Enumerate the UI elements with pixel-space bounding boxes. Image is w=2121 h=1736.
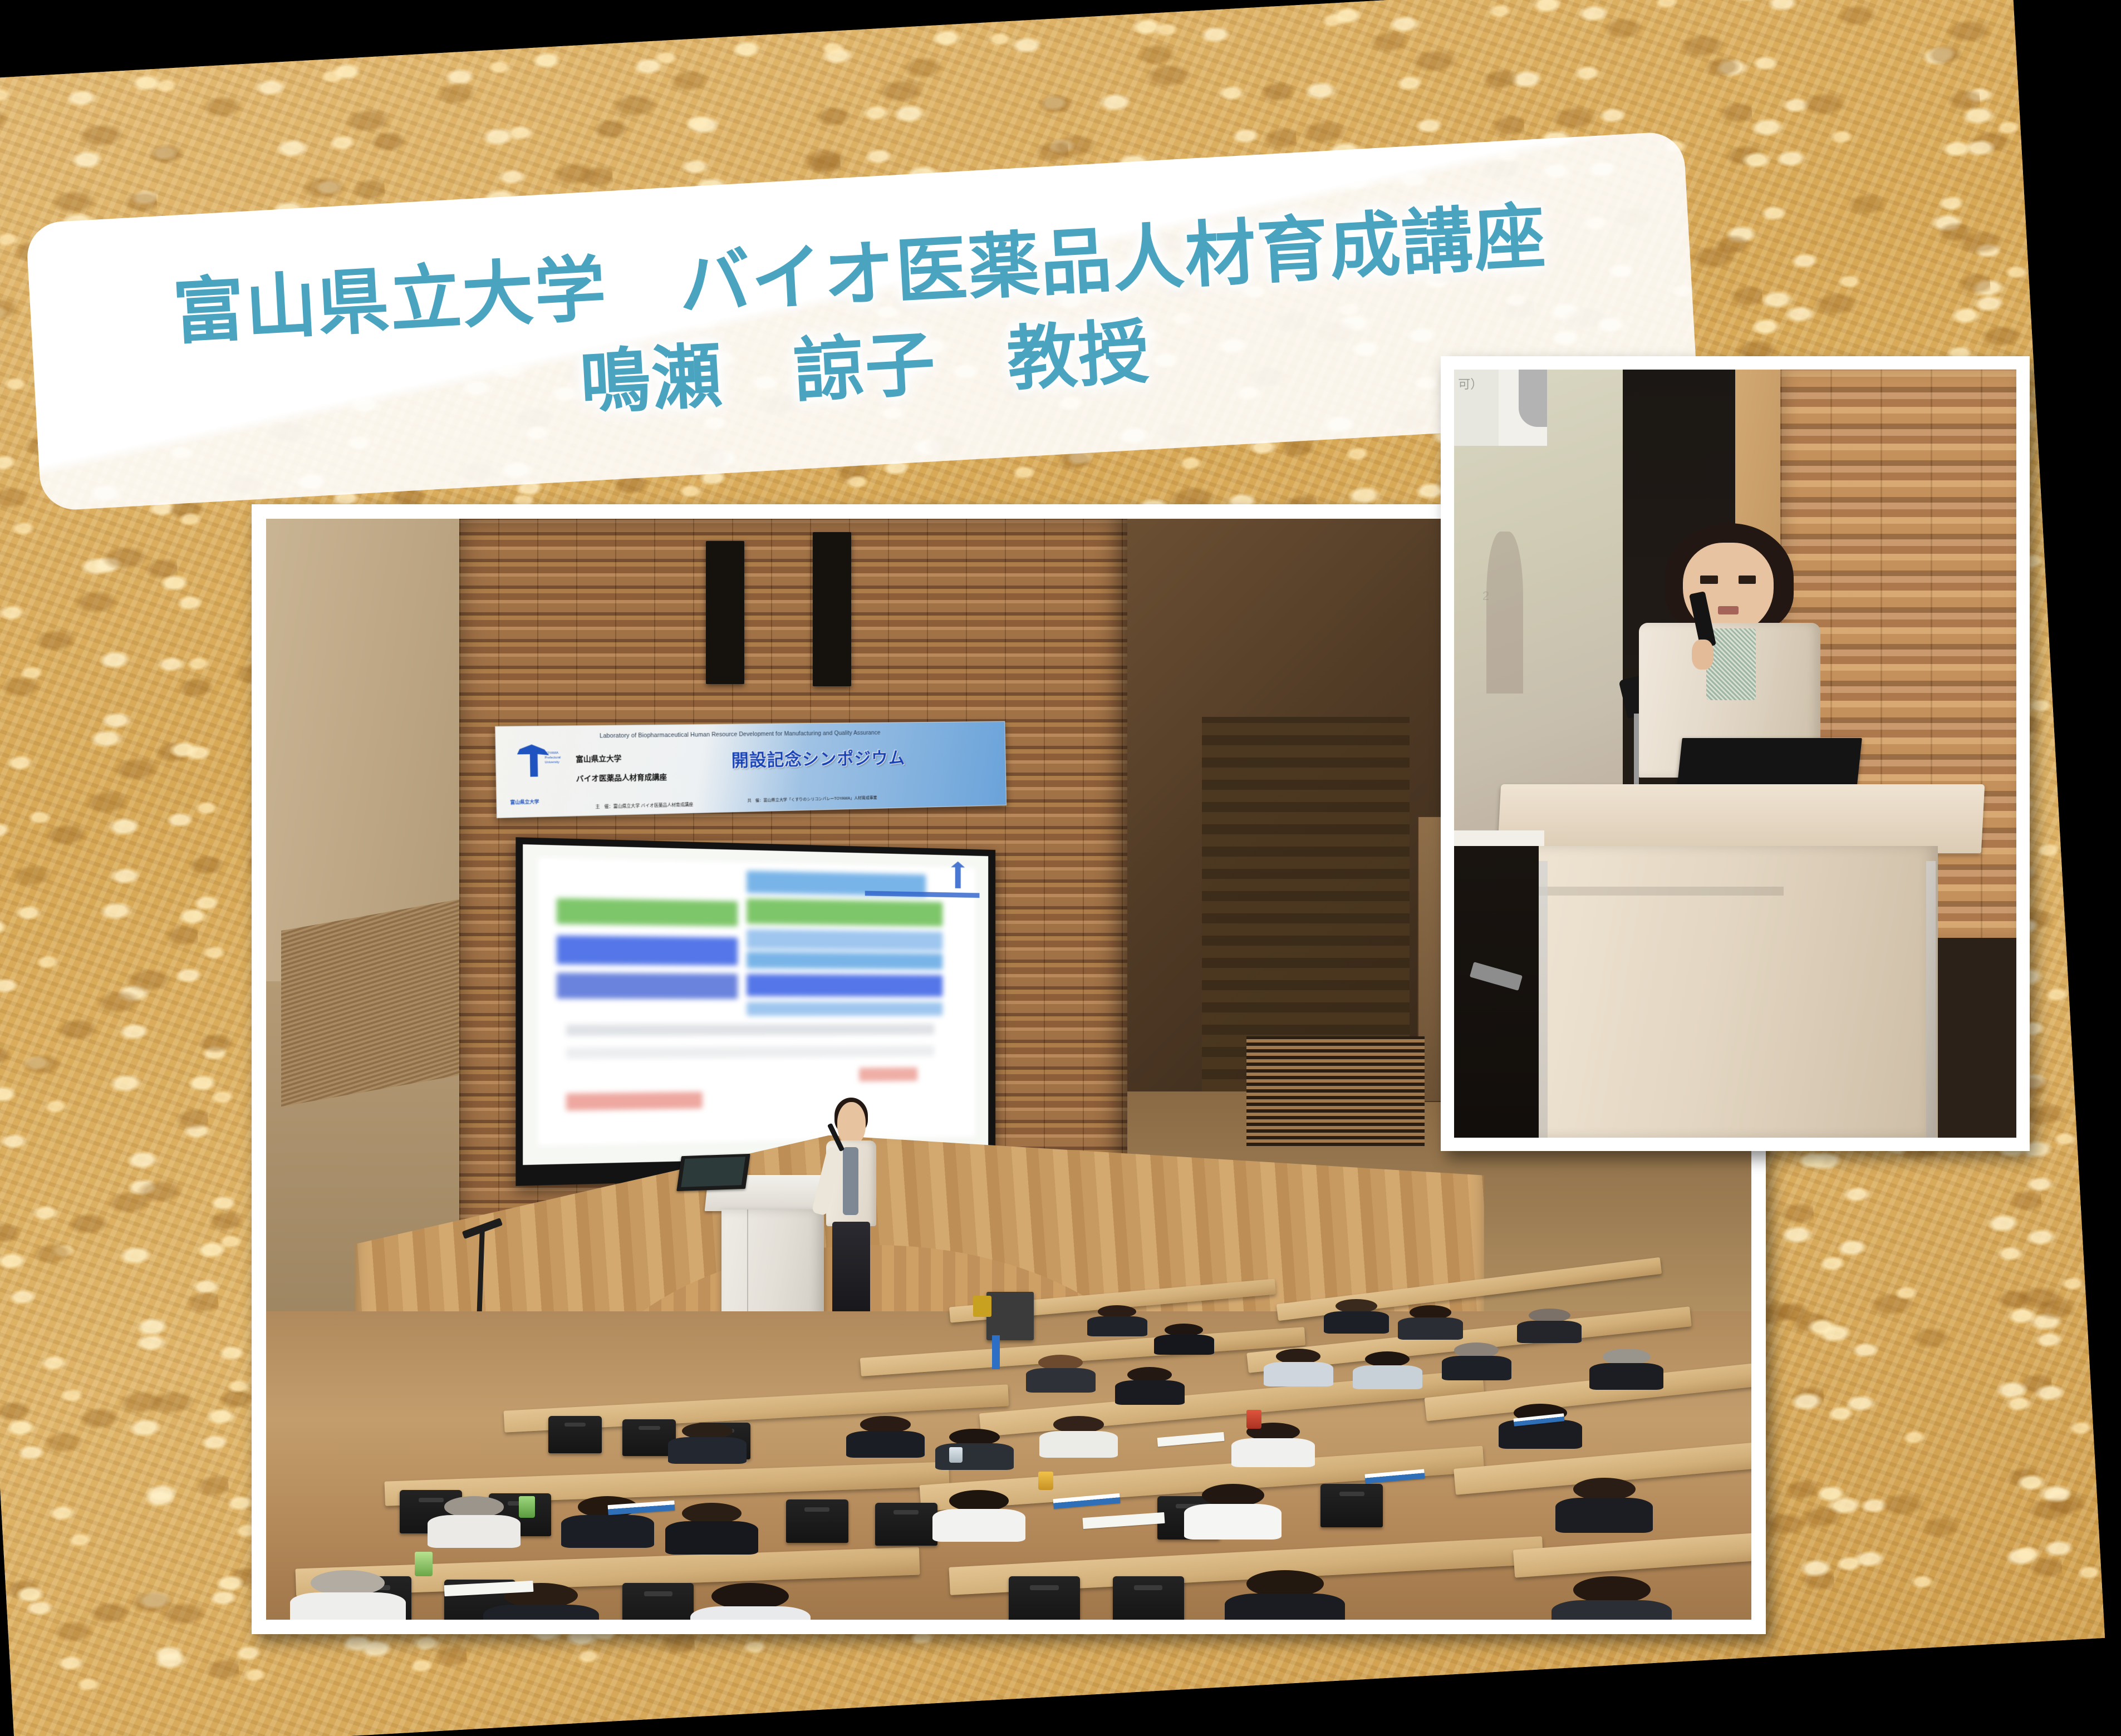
slide-block-blue — [556, 935, 738, 965]
drink-bottle — [519, 1496, 535, 1518]
attendee — [860, 1416, 911, 1453]
desk-row — [1513, 1529, 1751, 1577]
inset-screen-block-3 — [1519, 370, 1547, 427]
logo-roman-line1: TOYAMA — [544, 751, 561, 756]
inset-speaker-mouth — [1718, 606, 1739, 614]
speaker-inner-top — [843, 1147, 858, 1215]
attendee — [1573, 1576, 1651, 1620]
chair — [1009, 1576, 1080, 1620]
slide-block-lightblue-2 — [747, 1001, 942, 1015]
attendee — [1246, 1570, 1324, 1620]
inset-screen-paren-text: 可） — [1458, 375, 1482, 392]
banner-headline: 開設記念シンポジウム — [731, 744, 905, 771]
poster-canvas: Laboratory of Biopharmaceutical Human Re… — [0, 0, 2121, 1736]
banner-university-logo: TOYAMA Prefectural University 富山県立大学 — [510, 744, 566, 794]
inset-screen-shadow — [1486, 532, 1523, 694]
attendee — [1365, 1351, 1410, 1385]
speaker-skirt — [832, 1222, 870, 1316]
slide-block-grey — [566, 1024, 934, 1036]
slide-block-blue-2 — [556, 972, 738, 999]
presentation-slide — [538, 857, 975, 1145]
attendee — [1038, 1355, 1083, 1389]
chair — [875, 1503, 937, 1546]
drink-bottle — [415, 1552, 433, 1576]
inset-glass-panel-right — [1926, 861, 1935, 1138]
attendee — [1202, 1484, 1264, 1533]
banner-org-line2: バイオ医薬品人材育成講座 — [576, 771, 667, 784]
title-line-1: 富山県立大学 バイオ医薬品人材育成講座 — [171, 191, 1549, 358]
attendee — [311, 1570, 385, 1620]
attendee — [1127, 1367, 1172, 1401]
slide-block-blue-3 — [747, 973, 942, 996]
attendee — [1053, 1416, 1104, 1453]
banner-logo-jp: 富山県立大学 — [510, 799, 539, 806]
banner-org-line1: 富山県立大学 — [576, 752, 622, 764]
inset-podium-body — [1533, 846, 1937, 1138]
audience-seating-area — [266, 1311, 1751, 1620]
chair — [1320, 1484, 1383, 1527]
slide-block-lightblue — [747, 929, 942, 951]
chair — [548, 1416, 602, 1453]
inset-speaker-hand — [1692, 640, 1714, 670]
attendee — [444, 1496, 504, 1542]
slide-block-cyan-2 — [747, 951, 942, 969]
slide-block-grey-2 — [566, 1045, 934, 1059]
banner-english-subtitle: Laboratory of Biopharmaceutical Human Re… — [600, 729, 981, 740]
logo-roman-line2: Prefectural — [545, 755, 561, 760]
drink-bottle — [949, 1447, 963, 1463]
attendee — [1573, 1478, 1636, 1527]
attendee — [1098, 1305, 1136, 1333]
banner-footer-right: 共 催：富山県立大学「くすりのシリコンバレーTOYAMA」人材育成事業 — [748, 795, 877, 803]
chair — [622, 1583, 694, 1620]
slide-block-red — [566, 1091, 702, 1110]
paper-sheet — [1157, 1432, 1224, 1446]
attendee — [1529, 1309, 1570, 1339]
projection-screen — [523, 844, 988, 1165]
attendee — [682, 1503, 742, 1549]
paper-sheet — [1083, 1512, 1165, 1529]
attendee — [1454, 1342, 1499, 1376]
right-wall-slats — [1246, 1036, 1425, 1147]
attendee — [1410, 1305, 1451, 1336]
stage-speaker — [822, 1102, 881, 1327]
speaker-head — [837, 1102, 866, 1145]
lamp-stem — [1634, 714, 1639, 785]
attendee — [711, 1583, 789, 1620]
inset-left-shadow — [1454, 846, 1539, 1138]
inset-white-strip — [1454, 830, 1544, 846]
attendee — [1603, 1349, 1650, 1385]
left-slat-rail — [281, 899, 459, 1107]
attendee — [682, 1423, 733, 1459]
attendee — [949, 1490, 1009, 1536]
inset-speaker-eye-right — [1739, 576, 1756, 584]
inset-photo-image: 可） 2 — [1454, 370, 2016, 1138]
podium-laptop — [676, 1154, 750, 1192]
attendee — [1165, 1324, 1203, 1351]
drink-bottle — [1246, 1410, 1261, 1428]
chair — [1113, 1576, 1184, 1620]
event-banner: Laboratory of Biopharmaceutical Human Re… — [495, 721, 1007, 819]
speaker-box-left — [706, 541, 744, 684]
slide-block-green — [556, 898, 738, 926]
attendee — [1336, 1299, 1377, 1330]
inset-glass-panel-left — [1539, 861, 1548, 1138]
drink-bottle — [1038, 1472, 1053, 1490]
inset-podium-top — [1498, 784, 1985, 853]
projection-screen-bezel — [515, 837, 995, 1186]
inset-speaker-eye-left — [1700, 576, 1718, 584]
banner-logo-roman: TOYAMA Prefectural University — [544, 751, 561, 765]
speaker-box-right — [813, 532, 851, 686]
right-wall-panel — [1202, 717, 1410, 1091]
slide-block-red-2 — [858, 1067, 917, 1081]
logo-roman-line3: University — [545, 760, 561, 765]
chair — [786, 1499, 848, 1543]
inset-photo-frame: 可） 2 — [1441, 356, 2030, 1151]
slide-block-green-2 — [747, 898, 942, 926]
attendee — [1276, 1349, 1320, 1383]
video-camera — [986, 1292, 1034, 1340]
banner-footer-left: 主 催：富山県立大学 バイオ医薬品人材育成講座 — [596, 801, 694, 810]
title-line-2: 鳴瀬 諒子 教授 — [578, 308, 1152, 429]
